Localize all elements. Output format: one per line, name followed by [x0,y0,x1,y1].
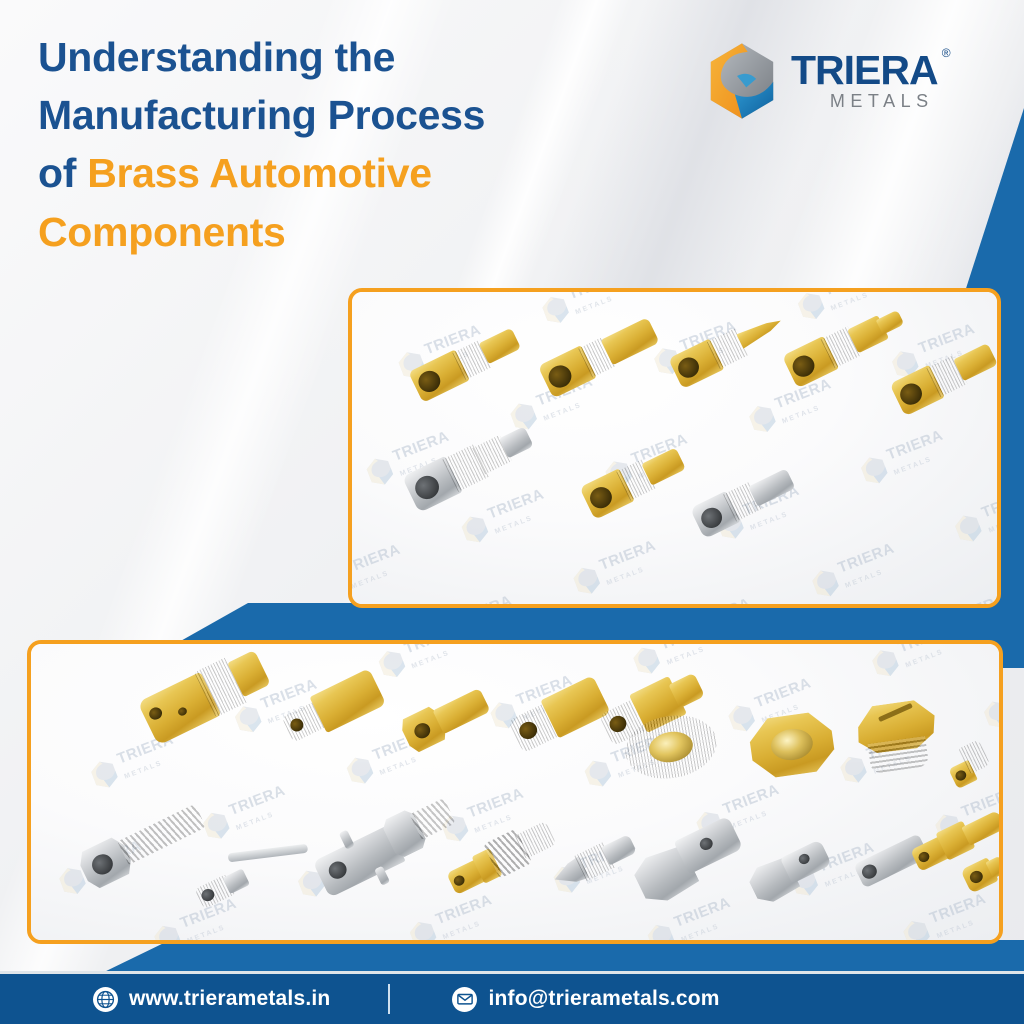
watermark-text: TRIERAMETALS [454,593,520,608]
blue-accent-band-bottom [100,940,1024,974]
photo-background: TRIERAMETALSTRIERAMETALSTRIERAMETALSTRIE… [352,292,997,604]
watermark-mark: TRIERAMETALS [348,351,355,465]
footer-website[interactable]: www.trierametals.in [93,987,330,1012]
footer-website-text: www.trierametals.in [129,987,330,1011]
watermark-text: TRIERAMETALS [597,538,663,589]
brass-connector-fittings-photo: TRIERAMETALSTRIERAMETALSTRIERAMETALSTRIE… [348,288,1001,608]
part-steel-nozzle-tip [739,825,837,911]
hexagon-logo-icon [581,755,616,791]
hexagon-logo-icon [569,562,604,598]
watermark-mark: TRIERAMETALS [671,288,786,300]
footer-bar: www.trierametals.in info@trierametals.co… [0,974,1024,1024]
part-steel-valve-body [305,783,466,908]
hexagon-logo-icon [405,916,440,944]
hexagon-logo-icon [793,288,828,324]
watermark-text: TRIERAMETALS [948,592,1001,608]
hexagon-logo-icon [856,452,891,488]
headline-line-3-prefix: of [38,150,87,196]
hexagon-logo-icon [808,565,843,601]
hexagon-logo-icon [703,42,781,120]
hexagon-logo-icon [745,401,780,437]
part-brass-hex-nut [745,708,839,781]
hexagon-logo-icon [538,291,573,327]
watermark-mark: TRIERAMETALS [941,459,1001,573]
watermark-text: TRIERAMETALS [348,542,408,593]
headline-line-4-highlight: Components [38,209,286,255]
envelope-icon [452,987,477,1012]
hexagon-logo-icon [374,646,409,682]
watermark-text: TRIERAMETALS [27,787,38,838]
watermark-mark: TRIERAMETALS [27,925,111,944]
watermark-mark: TRIERAMETALS [415,567,530,608]
headline-line-2: Manufacturing Process [38,92,485,138]
watermark-mark: TRIERAMETALS [559,512,674,608]
watermark-mark: TRIERAMETALS [763,640,878,651]
hexagon-logo-icon [951,510,986,546]
watermark-text: TRIERAMETALS [566,288,632,318]
headline-line-1: Understanding the [38,34,395,80]
watermark-text: TRIERAMETALS [672,895,738,944]
poster-canvas: Understanding the Manufacturing Process … [0,0,1024,1024]
watermark-text: TRIERAMETALS [896,640,962,671]
watermark-text: TRIERAMETALS [692,596,758,608]
hexagon-logo-icon [150,920,185,944]
part-brass-hex-fitting [394,675,496,760]
watermark-text: TRIERAMETALS [928,891,994,942]
hexagon-logo-icon [644,919,679,944]
part-brass-drain-plug [850,697,943,780]
brass-components-assortment-photo: TRIERAMETALSTRIERAMETALSTRIERAMETALSTRIE… [27,640,1003,944]
watermark-mark: TRIERAMETALS [797,514,912,608]
watermark-mark: TRIERAMETALS [507,640,622,654]
watermark-mark: TRIERAMETALS [909,566,1001,608]
photo-background: TRIERAMETALSTRIERAMETALSTRIERAMETALSTRIE… [31,644,999,940]
part-brass-connector [504,672,613,761]
watermark-text: TRIERAMETALS [658,640,724,668]
brand-logo: TRIERA® METALS [703,40,983,122]
watermark-text: TRIERAMETALS [885,428,951,479]
hexagon-logo-icon [457,511,492,547]
part-brass-housing [135,641,275,749]
part-steel-connector [688,459,800,542]
watermark-mark: TRIERAMETALS [653,570,768,608]
watermark-mark: TRIERAMETALS [490,924,605,944]
headline-line-3-highlight: Brass Automotive [87,150,432,196]
watermark-mark: TRIERAMETALS [27,761,48,875]
hexagon-logo-icon [629,642,664,678]
part-brass-connector [537,312,663,402]
footer-email-text: info@trierametals.com [488,987,719,1011]
registered-trademark-icon: ® [942,48,950,59]
page-title: Understanding the Manufacturing Process … [38,28,678,261]
watermark-mark: TRIERAMETALS [745,920,860,944]
globe-icon [93,987,118,1012]
part-brass-connector [578,439,690,522]
logo-subtitle: METALS [791,91,938,112]
watermark-text: TRIERAMETALS [980,485,1001,536]
part-brass-connector [888,335,1001,419]
watermark-mark: TRIERAMETALS [846,401,961,515]
watermark-mark: TRIERAMETALS [251,921,366,944]
part-brass-insert [941,736,998,797]
hexagon-logo-icon [868,645,903,681]
footer-divider [388,984,390,1014]
part-brass-nozzle [667,304,791,393]
hexagon-logo-icon [342,752,377,788]
watermark-text: TRIERAMETALS [486,487,552,538]
watermark-text: TRIERAMETALS [402,640,468,672]
logo-name: TRIERA® [791,52,938,90]
watermark-mark: TRIERAMETALS [926,288,1001,296]
hexagon-logo-icon [362,453,397,489]
footer-email[interactable]: info@trierametals.com [452,987,719,1012]
part-brass-connector [407,321,524,404]
hexagon-logo-icon [899,915,934,944]
part-steel-connector [400,415,540,516]
hexagon-logo-icon [980,696,1003,732]
part-steel-spray-nozzle [621,800,751,913]
hexagon-logo-icon [1000,397,1001,433]
logo-wordmark: TRIERA® METALS [791,50,938,113]
watermark-mark: TRIERAMETALS [348,516,418,608]
hexagon-logo-icon [87,756,122,792]
watermark-text: TRIERAMETALS [836,541,902,592]
part-brass-nipple [277,665,389,754]
